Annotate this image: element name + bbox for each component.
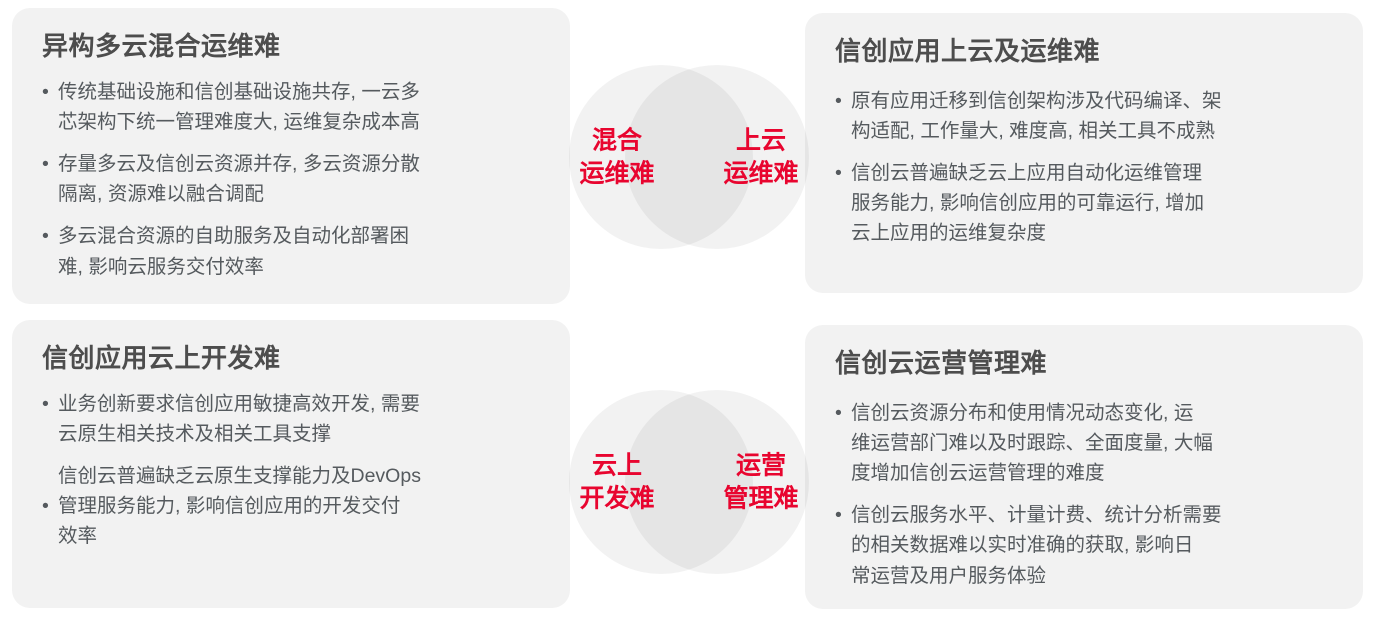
venn-label-migration-ops: 上云 运维难 <box>701 125 821 190</box>
card-cloud-development: 信创应用云上开发难 • 业务创新要求信创应用敏捷高效开发, 需要 云原生相关技术… <box>12 320 570 608</box>
bullet-text: 原有应用迁移到信创架构涉及代码编译、架 构适配, 工作量大, 难度高, 相关工具… <box>851 86 1333 146</box>
bullet-marker-icon: • <box>42 149 58 179</box>
bullet-marker-icon: • <box>42 77 58 107</box>
list-item: • 业务创新要求信创应用敏捷高效开发, 需要 云原生相关技术及相关工具支撑 <box>42 389 540 449</box>
bullet-marker-icon: • <box>835 500 851 530</box>
bullet-text: 多云混合资源的自助服务及自动化部署困 难, 影响云服务交付效率 <box>58 221 540 281</box>
bullet-list: • 传统基础设施和信创基础设施共存, 一云多 芯架构下统一管理难度大, 运维复杂… <box>42 77 540 282</box>
venn-diagram-bottom: 云上 开发难 运营 管理难 <box>569 390 809 574</box>
bullet-marker-icon: • <box>835 158 851 188</box>
venn-label-hybrid-ops: 混合 运维难 <box>557 125 677 190</box>
card-cloud-operations-management: 信创云运营管理难 • 信创云资源分布和使用情况动态变化, 运 维运营部门难以及时… <box>805 325 1363 609</box>
list-item: • 存量多云及信创云资源并存, 多云资源分散 隔离, 资源难以融合调配 <box>42 149 540 209</box>
bullet-marker-icon: • <box>835 86 851 116</box>
list-item: • 原有应用迁移到信创架构涉及代码编译、架 构适配, 工作量大, 难度高, 相关… <box>835 86 1333 146</box>
bullet-list: • 业务创新要求信创应用敏捷高效开发, 需要 云原生相关技术及相关工具支撑 • … <box>42 389 540 552</box>
list-item: • 信创云资源分布和使用情况动态变化, 运 维运营部门难以及时跟踪、全面度量, … <box>835 398 1333 489</box>
bullet-marker-icon: • <box>835 398 851 428</box>
venn-label-cloud-dev: 云上 开发难 <box>557 450 677 515</box>
bullet-marker-icon: • <box>42 221 58 251</box>
bullet-text: 信创云普遍缺乏云上应用自动化运维管理 服务能力, 影响信创应用的可靠运行, 增加… <box>851 158 1333 249</box>
list-item: • 信创云普遍缺乏云上应用自动化运维管理 服务能力, 影响信创应用的可靠运行, … <box>835 158 1333 249</box>
bullet-text: 信创云普遍缺乏云原生支撑能力及DevOps 管理服务能力, 影响信创应用的开发交… <box>58 461 540 552</box>
venn-label-ops-mgmt: 运营 管理难 <box>701 450 821 515</box>
bullet-text: 传统基础设施和信创基础设施共存, 一云多 芯架构下统一管理难度大, 运维复杂成本… <box>58 77 540 137</box>
card-title: 信创应用上云及运维难 <box>835 35 1333 68</box>
card-title: 异构多云混合运维难 <box>42 30 540 63</box>
list-item: • 传统基础设施和信创基础设施共存, 一云多 芯架构下统一管理难度大, 运维复杂… <box>42 77 540 137</box>
card-app-migration-ops: 信创应用上云及运维难 • 原有应用迁移到信创架构涉及代码编译、架 构适配, 工作… <box>805 13 1363 293</box>
bullet-text: 信创云服务水平、计量计费、统计分析需要 的相关数据难以实时准确的获取, 影响日 … <box>851 500 1333 591</box>
venn-diagram-top: 混合 运维难 上云 运维难 <box>569 65 809 249</box>
bullet-marker-icon: • <box>42 389 58 419</box>
bullet-text: 信创云资源分布和使用情况动态变化, 运 维运营部门难以及时跟踪、全面度量, 大幅… <box>851 398 1333 489</box>
list-item: • 信创云普遍缺乏云原生支撑能力及DevOps 管理服务能力, 影响信创应用的开… <box>42 461 540 552</box>
card-heterogeneous-multicloud-ops: 异构多云混合运维难 • 传统基础设施和信创基础设施共存, 一云多 芯架构下统一管… <box>12 8 570 304</box>
bullet-text: 业务创新要求信创应用敏捷高效开发, 需要 云原生相关技术及相关工具支撑 <box>58 389 540 449</box>
diagram-canvas: 异构多云混合运维难 • 传统基础设施和信创基础设施共存, 一云多 芯架构下统一管… <box>0 0 1378 620</box>
list-item: • 信创云服务水平、计量计费、统计分析需要 的相关数据难以实时准确的获取, 影响… <box>835 500 1333 591</box>
bullet-marker-icon: • <box>42 491 58 521</box>
bullet-text: 存量多云及信创云资源并存, 多云资源分散 隔离, 资源难以融合调配 <box>58 149 540 209</box>
bullet-list: • 信创云资源分布和使用情况动态变化, 运 维运营部门难以及时跟踪、全面度量, … <box>835 398 1333 591</box>
card-title: 信创云运营管理难 <box>835 347 1333 380</box>
bullet-list: • 原有应用迁移到信创架构涉及代码编译、架 构适配, 工作量大, 难度高, 相关… <box>835 86 1333 249</box>
card-title: 信创应用云上开发难 <box>42 342 540 375</box>
list-item: • 多云混合资源的自助服务及自动化部署困 难, 影响云服务交付效率 <box>42 221 540 281</box>
